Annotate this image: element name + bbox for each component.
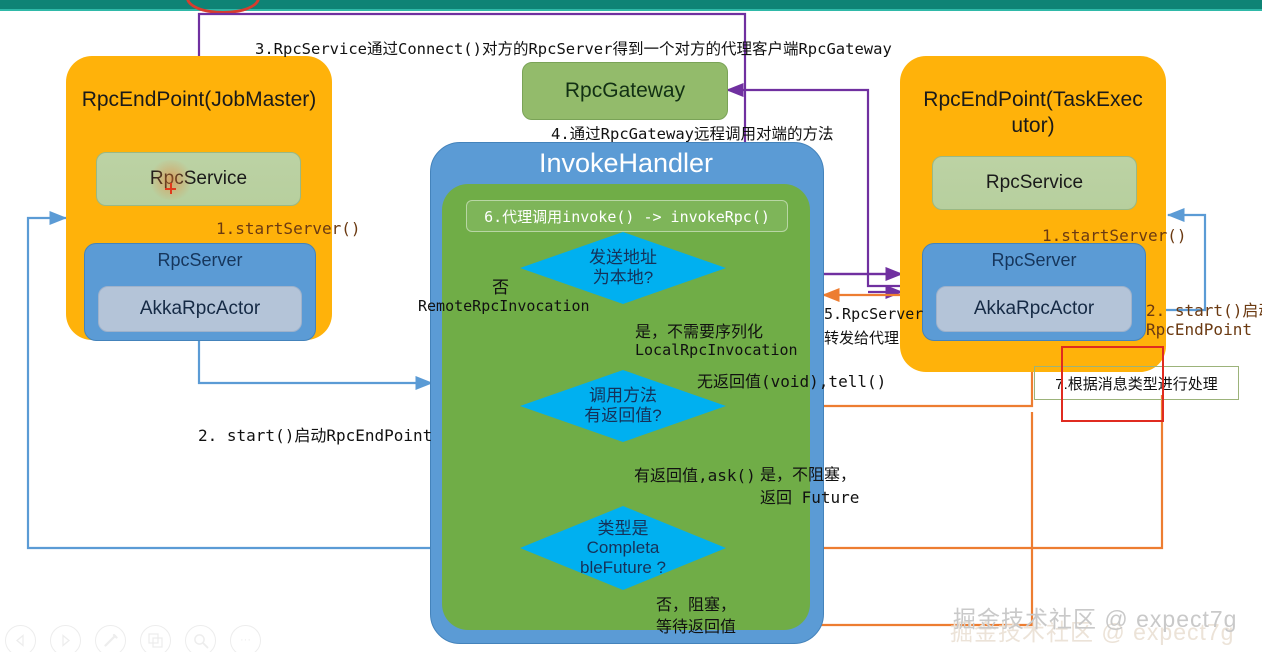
edge-blocking-line1: 否，阻塞， <box>656 591 736 615</box>
rpcgateway-label: RpcGateway <box>565 79 685 103</box>
edge-remote-rpc-invocation-label: RemoteRpcInvocation <box>418 297 590 315</box>
jobmaster-rpcserver-label: RpcServer <box>85 250 315 271</box>
jobmaster-startserver-label: 1.startServer() <box>216 219 361 238</box>
edge-has-return-ask-label: 有返回值,ask() <box>634 462 756 486</box>
red-rect-annotation <box>1061 346 1164 422</box>
more-glyph: ··· <box>240 635 251 646</box>
taskexecutor-akkarpcactor-label: AkkaRpcActor <box>974 298 1094 320</box>
edge-nonblocking-line2: 返回 Future <box>760 484 859 508</box>
edge-yes-local-line1: 是，不需要序列化 <box>635 318 763 342</box>
diamond-shape-1 <box>520 232 726 304</box>
taskexecutor-start-endpoint-line2: RpcEndPoint <box>1146 320 1252 339</box>
edge-no-label: 否 <box>492 273 509 298</box>
edge-local-rpc-invocation-label: LocalRpcInvocation <box>635 341 798 359</box>
player-toolbar[interactable]: ··· <box>5 625 261 652</box>
jobmaster-akkarpcactor-box: AkkaRpcActor <box>98 286 302 332</box>
decision-is-completablefuture: 类型是 Completa bleFuture ? <box>520 506 726 590</box>
previous-icon[interactable] <box>5 625 36 652</box>
next-icon[interactable] <box>50 625 81 652</box>
jobmaster-rpcservice-box: RpcService <box>96 152 301 206</box>
step4-label: 4.通过RpcGateway远程调用对端的方法 <box>551 122 833 144</box>
rpcgateway-box: RpcGateway <box>522 62 728 120</box>
step2-left-label: 2. start()启动RpcEndPoint <box>198 422 432 446</box>
invokehandler-title: InvokeHandler <box>430 148 822 179</box>
taskexecutor-title-line2: utor) <box>900 114 1166 138</box>
more-icon[interactable]: ··· <box>230 625 261 652</box>
step6-label: 6.代理调用invoke() -> invokeRpc() <box>484 206 770 227</box>
taskexecutor-rpcservice-box: RpcService <box>932 156 1137 210</box>
step6-box: 6.代理调用invoke() -> invokeRpc() <box>466 200 788 232</box>
diamond-shape-3 <box>520 506 726 590</box>
jobmaster-title: RpcEndPoint(JobMaster) <box>66 88 332 112</box>
edge-void-tell-label: 无返回值(void),tell() <box>697 368 886 392</box>
decision-has-return-value: 调用方法 有返回值? <box>520 370 726 442</box>
step5-line1: 5.RpcServer <box>824 305 923 323</box>
taskexecutor-akkarpcactor-box: AkkaRpcActor <box>936 286 1132 332</box>
step3-label: 3.RpcService通过Connect()对方的RpcServer得到一个对… <box>255 37 892 59</box>
zoom-icon[interactable] <box>185 625 216 652</box>
diamond-shape-2 <box>520 370 726 442</box>
laser-pointer-dot <box>148 160 194 200</box>
pen-icon[interactable] <box>95 625 126 652</box>
taskexecutor-rpcservice-label: RpcService <box>986 172 1083 194</box>
next-glyph <box>59 634 72 647</box>
watermark: 掘金技术社区 @ expect7g <box>953 600 1237 634</box>
duplicate-glyph <box>148 633 164 649</box>
duplicate-icon[interactable] <box>140 625 171 652</box>
decision-is-local-address: 发送地址 为本地? <box>520 232 726 304</box>
slide-canvas: RpcEndPoint(JobMaster) RpcService 1.star… <box>0 0 1262 652</box>
taskexecutor-start-endpoint-line1: 2. start()启动 <box>1146 297 1262 321</box>
edge-nonblocking-line1: 是，不阻塞， <box>760 461 856 485</box>
edge-blocking-line2: 等待返回值 <box>656 613 736 637</box>
zoom-glyph <box>193 633 209 649</box>
previous-glyph <box>14 634 27 647</box>
taskexecutor-rpcserver-label: RpcServer <box>923 250 1145 271</box>
taskexecutor-title-line1: RpcEndPoint(TaskExec <box>900 88 1166 112</box>
laser-pointer-cross <box>165 183 176 194</box>
jobmaster-akkarpcactor-label: AkkaRpcActor <box>140 298 260 320</box>
pen-glyph <box>102 632 119 649</box>
step5-line2: 转发给代理 <box>824 327 899 348</box>
